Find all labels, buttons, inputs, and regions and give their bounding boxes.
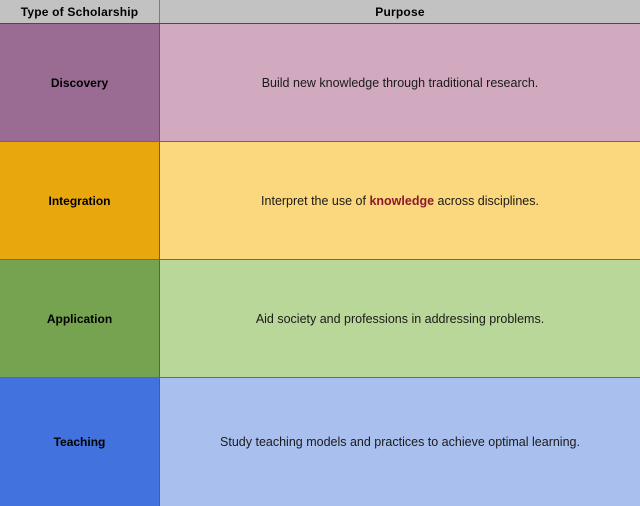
column-header-type-of-scholarship: Type of Scholarship	[0, 0, 160, 23]
table-row: Application Aid society and professions …	[0, 260, 640, 378]
table-row: Discovery Build new knowledge through tr…	[0, 24, 640, 142]
table-row: Teaching Study teaching models and pract…	[0, 378, 640, 506]
purpose-text-before: Aid society and professions in addressin…	[256, 312, 544, 326]
purpose-text-before: Build new knowledge through traditional …	[262, 76, 539, 90]
table-header-row: Type of Scholarship Purpose	[0, 0, 640, 24]
scholarship-purpose-cell: Interpret the use of knowledge across di…	[160, 142, 640, 259]
scholarship-purpose-cell: Build new knowledge through traditional …	[160, 24, 640, 141]
purpose-text-after: across disciplines.	[434, 194, 539, 208]
purpose-text: Interpret the use of knowledge across di…	[172, 194, 628, 208]
table-row: Integration Interpret the use of knowled…	[0, 142, 640, 260]
column-header-purpose: Purpose	[160, 0, 640, 23]
scholarship-type-label: Discovery	[0, 24, 160, 141]
purpose-text-before: Interpret the use of	[261, 194, 369, 208]
purpose-text-before: Study teaching models and practices to a…	[220, 435, 580, 449]
scholarship-purpose-cell: Study teaching models and practices to a…	[160, 378, 640, 506]
scholarship-type-label: Application	[0, 260, 160, 377]
purpose-text: Aid society and professions in addressin…	[172, 312, 628, 326]
purpose-text-highlight: knowledge	[369, 194, 434, 208]
scholarship-type-label: Integration	[0, 142, 160, 259]
purpose-text: Study teaching models and practices to a…	[172, 435, 628, 449]
purpose-text: Build new knowledge through traditional …	[172, 76, 628, 90]
scholarship-type-label: Teaching	[0, 378, 160, 506]
scholarship-types-table: Type of Scholarship Purpose Discovery Bu…	[0, 0, 640, 506]
scholarship-purpose-cell: Aid society and professions in addressin…	[160, 260, 640, 377]
